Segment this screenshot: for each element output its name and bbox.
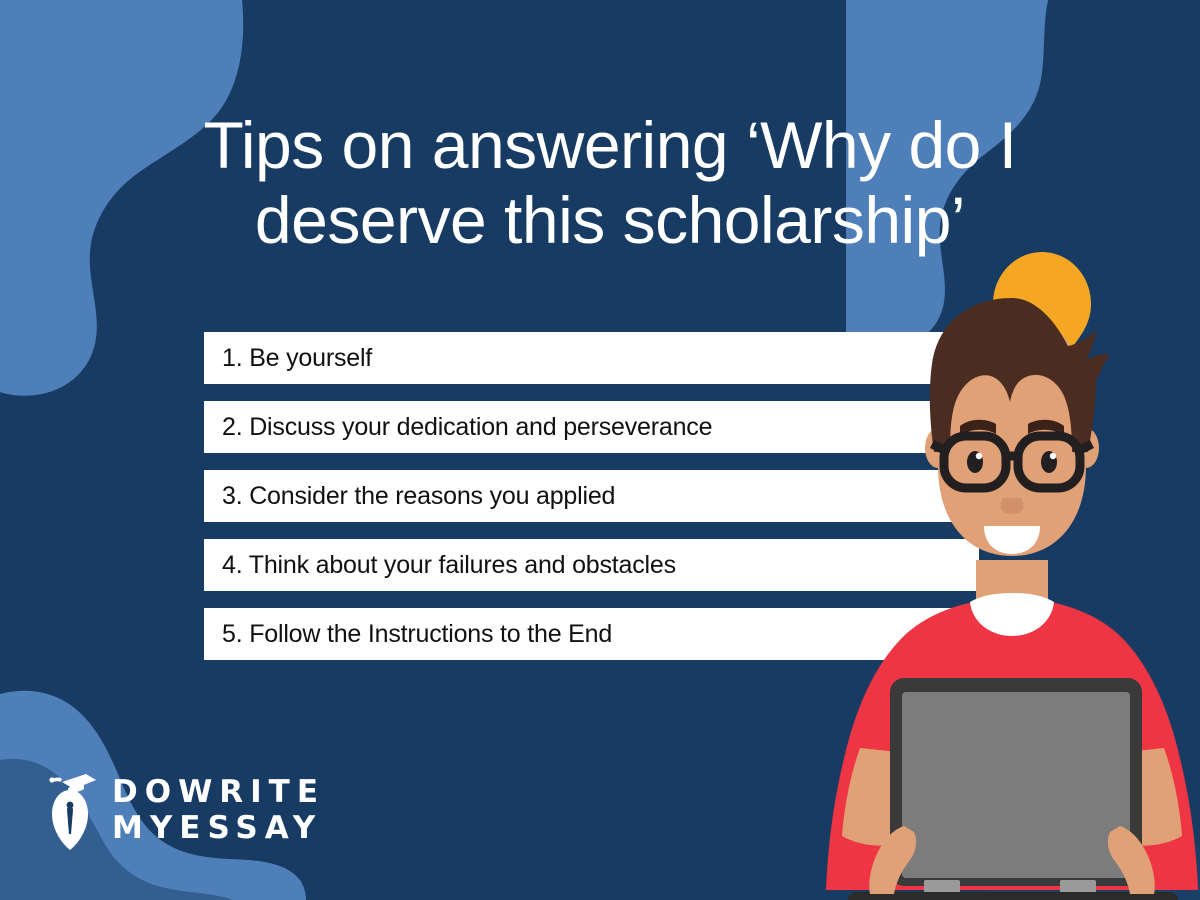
tip-label: 5. Follow the Instructions to the End — [222, 620, 612, 649]
tip-label: 3. Consider the reasons you applied — [222, 482, 615, 511]
student-illustration — [820, 230, 1200, 900]
illustration-svg — [820, 230, 1200, 900]
eye-highlight-right — [1050, 453, 1056, 459]
tip-label: 4. Think about your failures and obstacl… — [222, 551, 676, 580]
logo-line-1: DOWRITE — [112, 777, 325, 809]
logo-line-2: MYESSAY — [112, 813, 325, 845]
logo-wordmark: DOWRITE MYESSAY — [112, 777, 325, 844]
slide-canvas: Tips on answering ‘Why do I deserve this… — [0, 0, 1200, 900]
nose — [1000, 498, 1023, 514]
eye-highlight-left — [976, 453, 982, 459]
tip-label: 2. Discuss your dedication and persevera… — [222, 413, 712, 442]
brand-logo[interactable]: DOWRITE MYESSAY — [44, 772, 325, 850]
tip-label: 1. Be yourself — [222, 344, 372, 373]
pen-nib-graduation-cap-icon — [44, 772, 98, 850]
